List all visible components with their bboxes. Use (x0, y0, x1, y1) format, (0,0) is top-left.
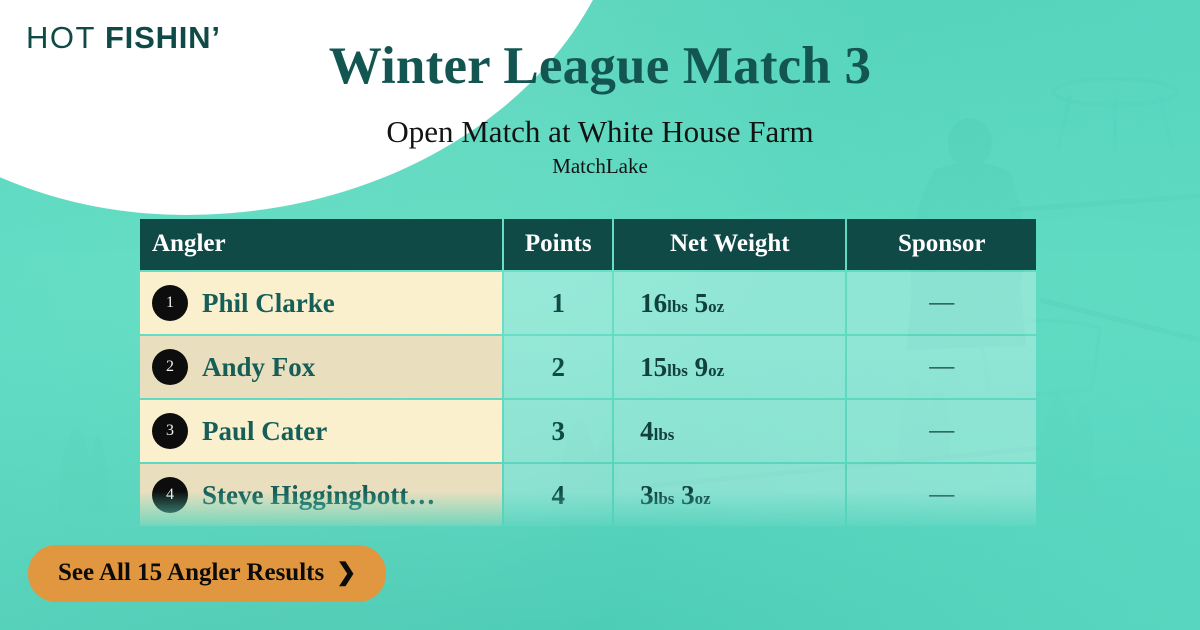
angler-name: Steve Higgingbott… (202, 480, 435, 511)
column-header-angler: Angler (140, 219, 502, 270)
cell-angler: 4Steve Higgingbott… (140, 464, 502, 526)
weight-unit-primary: lbs (654, 489, 675, 508)
net-weight-value: 16lbs 5oz (640, 288, 724, 318)
cell-net-weight: 16lbs 5oz (614, 272, 845, 334)
angler-inner: 3Paul Cater (152, 413, 502, 449)
rank-badge: 2 (152, 349, 188, 385)
column-header-sponsor: Sponsor (847, 219, 1036, 270)
weight-number-secondary: 9 (695, 352, 709, 382)
cell-sponsor: — (847, 464, 1036, 526)
cell-sponsor: — (847, 400, 1036, 462)
sponsor-value: — (929, 481, 954, 508)
table-row[interactable]: 2Andy Fox215lbs 9oz— (140, 336, 1036, 398)
angler-inner: 1Phil Clarke (152, 285, 502, 321)
weight-unit-primary: lbs (667, 297, 688, 316)
angler-name: Andy Fox (202, 352, 315, 383)
weight-number-secondary: 3 (681, 480, 695, 510)
results-table-wrapper: Angler Points Net Weight Sponsor 1Phil C… (140, 219, 1040, 529)
table-body: 1Phil Clarke116lbs 5oz—2Andy Fox215lbs 9… (140, 272, 1036, 526)
sponsor-value: — (929, 353, 954, 380)
weight-number-primary: 3 (640, 480, 654, 510)
column-header-points: Points (504, 219, 612, 270)
angler-name: Phil Clarke (202, 288, 335, 319)
cell-net-weight: 4lbs (614, 400, 845, 462)
cell-net-weight: 15lbs 9oz (614, 336, 845, 398)
cell-angler: 2Andy Fox (140, 336, 502, 398)
cell-points: 1 (504, 272, 612, 334)
cell-points: 3 (504, 400, 612, 462)
weight-unit-primary: lbs (667, 361, 688, 380)
weight-number-primary: 15 (640, 352, 667, 382)
results-table: Angler Points Net Weight Sponsor 1Phil C… (140, 219, 1038, 528)
cell-points: 2 (504, 336, 612, 398)
angler-inner: 2Andy Fox (152, 349, 502, 385)
rank-badge: 3 (152, 413, 188, 449)
weight-number-primary: 16 (640, 288, 667, 318)
venue-name: MatchLake (0, 154, 1200, 179)
column-header-net-weight: Net Weight (614, 219, 845, 270)
cell-angler: 3Paul Cater (140, 400, 502, 462)
table-row[interactable]: 4Steve Higgingbott…43lbs 3oz— (140, 464, 1036, 526)
sponsor-value: — (929, 417, 954, 444)
cell-angler: 1Phil Clarke (140, 272, 502, 334)
sponsor-value: — (929, 289, 954, 316)
weight-unit-secondary: oz (708, 361, 724, 380)
points-value: 3 (551, 416, 565, 446)
table-row[interactable]: 3Paul Cater34lbs— (140, 400, 1036, 462)
weight-unit-secondary: oz (708, 297, 724, 316)
points-value: 1 (551, 288, 565, 318)
cell-net-weight: 3lbs 3oz (614, 464, 845, 526)
see-all-results-button[interactable]: See All 15 Angler Results ❯ (28, 545, 386, 602)
weight-unit-primary: lbs (654, 425, 675, 444)
table-header: Angler Points Net Weight Sponsor (140, 219, 1036, 270)
weight-number-primary: 4 (640, 416, 654, 446)
weight-number-secondary: 5 (695, 288, 709, 318)
weight-unit-secondary: oz (695, 489, 711, 508)
cta-label: See All 15 Angler Results (58, 559, 324, 587)
cell-sponsor: — (847, 272, 1036, 334)
cell-points: 4 (504, 464, 612, 526)
points-value: 2 (551, 352, 565, 382)
cell-sponsor: — (847, 336, 1036, 398)
table-row[interactable]: 1Phil Clarke116lbs 5oz— (140, 272, 1036, 334)
chevron-right-icon: ❯ (336, 558, 356, 587)
rank-badge: 1 (152, 285, 188, 321)
angler-inner: 4Steve Higgingbott… (152, 477, 502, 513)
table-header-row: Angler Points Net Weight Sponsor (140, 219, 1036, 270)
net-weight-value: 4lbs (640, 416, 674, 446)
header-block: Winter League Match 3 Open Match at Whit… (0, 36, 1200, 179)
points-value: 4 (551, 480, 565, 510)
rank-badge: 4 (152, 477, 188, 513)
angler-name: Paul Cater (202, 416, 327, 447)
net-weight-value: 15lbs 9oz (640, 352, 724, 382)
page-title: Winter League Match 3 (0, 36, 1200, 97)
page-subtitle: Open Match at White House Farm (0, 113, 1200, 150)
net-weight-value: 3lbs 3oz (640, 480, 711, 510)
